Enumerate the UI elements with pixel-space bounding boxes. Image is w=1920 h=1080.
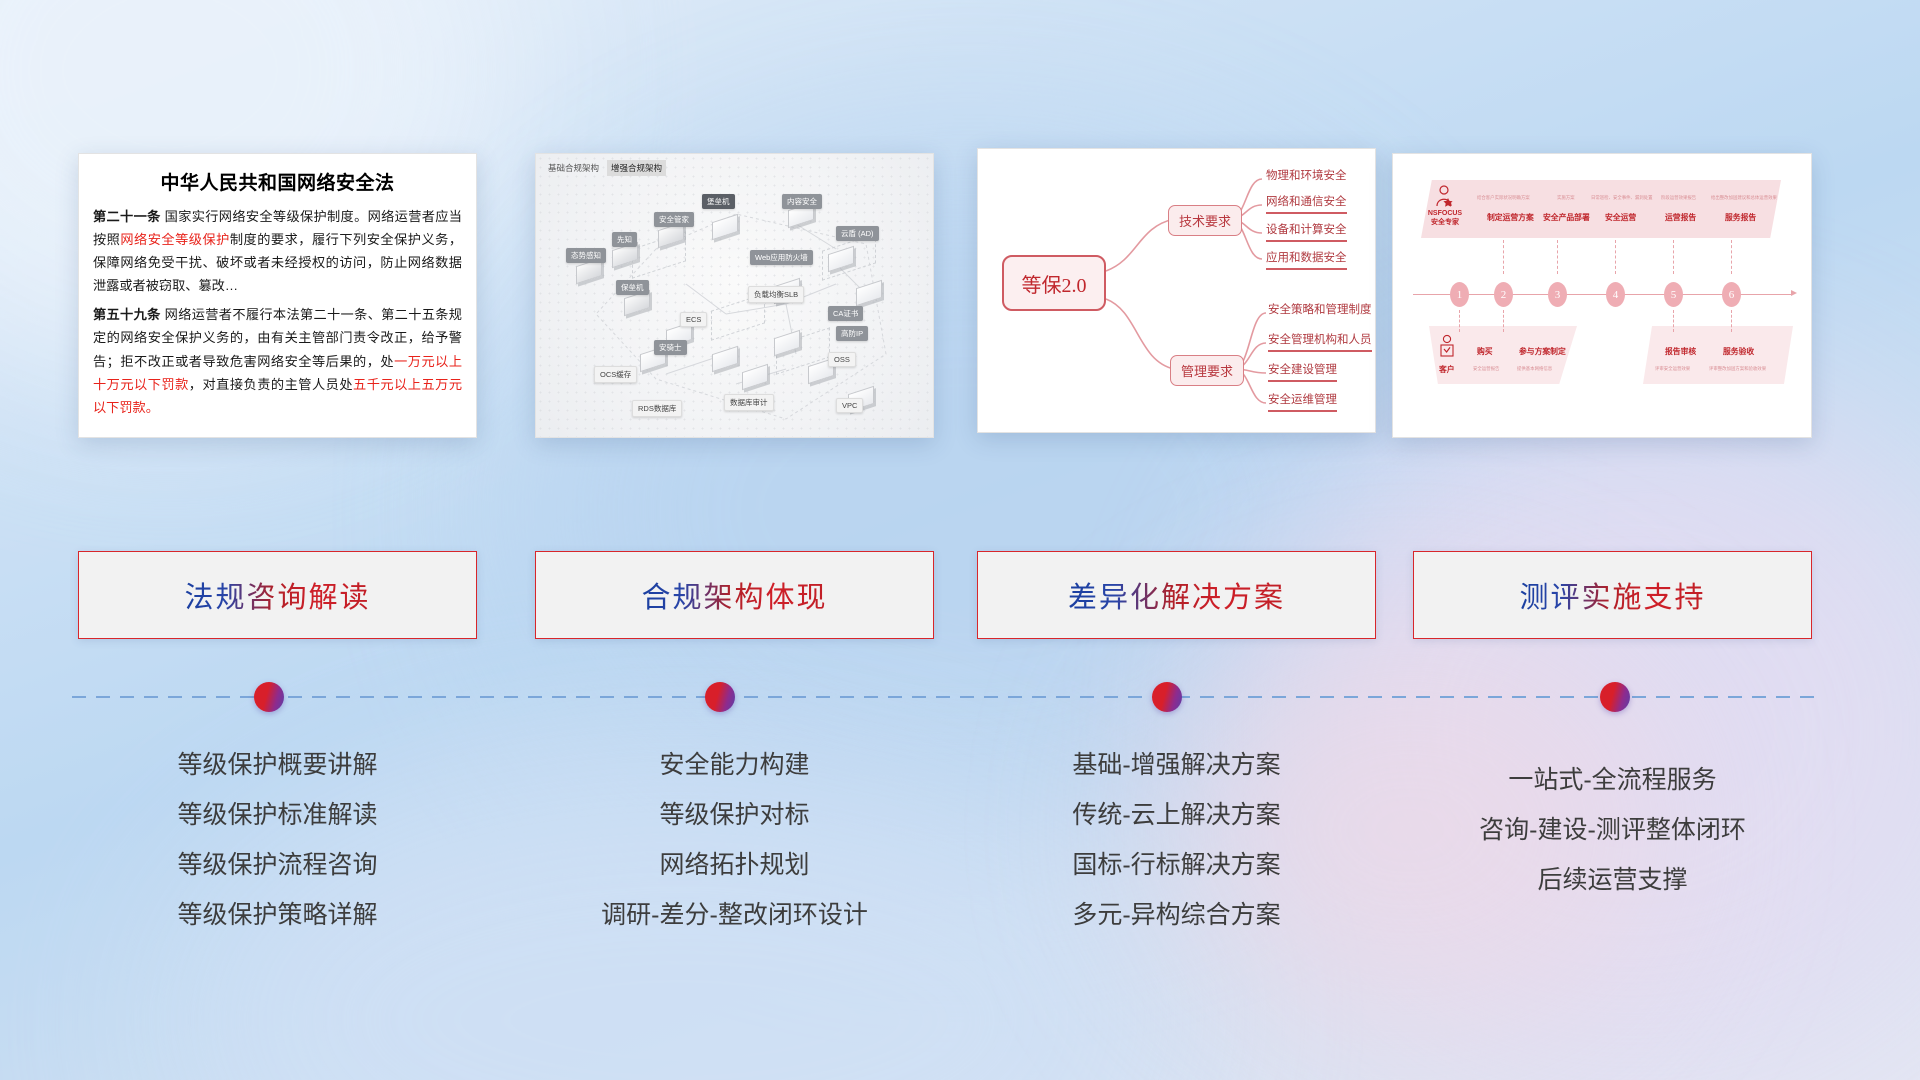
- provider-main-3: 安全运营: [1605, 212, 1636, 223]
- arch-node-8: RDS数据库: [632, 400, 682, 417]
- law-body: 第二十一条 国家实行网络安全等级保护制度。网络运营者应当按照网络安全等级保护制度…: [79, 205, 476, 433]
- nsfocus-logo-subtitle: 安全专家: [1423, 219, 1467, 228]
- list-item: 国标-行标解决方案: [977, 840, 1376, 890]
- arch-node-1: 安全管家: [654, 212, 694, 227]
- arch-node-14: OSS: [828, 352, 856, 367]
- provider-sub-5: 给出整改加固建议和总体运营效果: [1711, 195, 1777, 201]
- mindmap-leaf-tech-1[interactable]: 物理和环境安全: [1266, 167, 1347, 186]
- banner-label-1: 法规咨询解读: [184, 574, 370, 616]
- list-item: 网络拓扑规划: [535, 840, 934, 890]
- timeline-connector-c1: [1459, 310, 1460, 332]
- timeline-marker-2[interactable]: [705, 682, 735, 712]
- timeline-step-2[interactable]: 2: [1494, 282, 1513, 307]
- list-item: 等级保护标准解读: [78, 790, 477, 840]
- timeline-marker-3[interactable]: [1152, 682, 1182, 712]
- banner-compliance-architecture[interactable]: 合规架构体现: [535, 551, 934, 639]
- tab-enhanced-architecture[interactable]: 增强合规架构: [607, 160, 666, 176]
- law-title: 中华人民共和国网络安全法: [79, 154, 476, 205]
- arch-node-0: 堡垒机: [702, 194, 735, 209]
- banner-evaluation-support[interactable]: 测评实施支持: [1413, 551, 1812, 639]
- timeline-connector-c2: [1503, 310, 1504, 332]
- list-item: 基础-增强解决方案: [977, 740, 1376, 790]
- tab-basic-architecture[interactable]: 基础合规架构: [544, 160, 603, 176]
- timeline-dashed-axis: [72, 696, 1822, 698]
- timeline-step-3[interactable]: 3: [1548, 282, 1567, 307]
- list-item: 安全能力构建: [535, 740, 934, 790]
- arch-node-11: CA证书: [828, 306, 863, 321]
- nsfocus-logo: NSFOCUS 安全专家: [1423, 210, 1467, 228]
- mindmap-leaf-mgmt-4[interactable]: 安全运维管理: [1268, 391, 1337, 412]
- list-regulation-consulting: 等级保护概要讲解 等级保护标准解读 等级保护流程咨询 等级保护策略详解: [78, 740, 477, 940]
- arch-node-10: 负载均衡SLB: [748, 286, 804, 303]
- law-paragraph-1: 第二十一条 国家实行网络安全等级保护制度。网络运营者应当按照网络安全等级保护制度…: [93, 205, 462, 297]
- provider-main-1: 制定运营方案: [1487, 212, 1534, 223]
- cards-row: 中华人民共和国网络安全法 第二十一条 国家实行网络安全等级保护制度。网络运营者应…: [0, 0, 1920, 460]
- provider-band: [1421, 180, 1781, 238]
- arch-node-13: 数据库审计: [724, 394, 774, 411]
- timeline-connector-2: [1503, 240, 1504, 274]
- list-item: 传统-云上解决方案: [977, 790, 1376, 840]
- arch-node-16: 云盾 (AD): [836, 226, 879, 241]
- card-service-timeline[interactable]: NSFOCUS 安全专家 结合客户实际状况明确方案 制定运营方案 实施方案 安全…: [1392, 153, 1812, 438]
- customer-sub-1: 安全运营报告: [1473, 366, 1499, 372]
- timeline-connector-3: [1557, 240, 1558, 274]
- list-item: 一站式-全流程服务: [1413, 755, 1812, 805]
- arch-node-4: 保垒机: [616, 280, 649, 295]
- mindmap-leaf-mgmt-1[interactable]: 安全策略和管理制度: [1268, 301, 1372, 320]
- provider-main-2: 安全产品部署: [1543, 212, 1590, 223]
- customer-icon: [1437, 334, 1457, 360]
- timeline-step-1[interactable]: 1: [1450, 282, 1469, 307]
- customer-sub-2: 提供基本网络信息: [1517, 366, 1552, 372]
- list-item: 后续运营支撑: [1413, 855, 1812, 905]
- arch-node-12: 高防IP: [836, 326, 868, 341]
- list-differentiated-solution: 基础-增强解决方案 传统-云上解决方案 国标-行标解决方案 多元-异构综合方案: [977, 740, 1376, 940]
- law-text-2b: ，对直接负责的主管人员处: [189, 377, 353, 392]
- banner-label-4: 测评实施支持: [1519, 574, 1705, 616]
- provider-sub-2: 实施方案: [1557, 195, 1575, 201]
- provider-main-4: 运营报告: [1665, 212, 1696, 223]
- provider-expert-icon: [1433, 184, 1455, 208]
- provider-sub-1: 结合客户实际状况明确方案: [1477, 195, 1530, 201]
- arch-node-15: VPC: [836, 398, 863, 413]
- law-article-1: 第二十一条: [93, 209, 161, 224]
- arch-node-3: 态势感知: [566, 248, 606, 263]
- mindmap-leaf-tech-3[interactable]: 设备和计算安全: [1266, 221, 1347, 242]
- arch-node-9: Web应用防火墙: [750, 250, 813, 265]
- banner-regulation-consulting[interactable]: 法规咨询解读: [78, 551, 477, 639]
- provider-sub-3: 日常巡检、安全事件、漏洞处置: [1591, 195, 1652, 201]
- customer-sub-3: 评审安全运营效果: [1655, 366, 1690, 372]
- nsfocus-logo-text: NSFOCUS: [1423, 210, 1467, 219]
- mindmap-leaf-mgmt-3[interactable]: 安全建设管理: [1268, 361, 1337, 382]
- provider-main-5: 服务报告: [1725, 212, 1756, 223]
- mindmap-canvas: 等保2.0 技术要求 管理要求 物理和环境安全 网络和通信安全 设备和计算安全 …: [978, 149, 1375, 432]
- mindmap-branch-mgmt[interactable]: 管理要求: [1170, 355, 1244, 386]
- banner-differentiated-solution[interactable]: 差异化解决方案: [977, 551, 1376, 639]
- timeline-connector-5: [1673, 240, 1674, 274]
- timeline-step-6[interactable]: 6: [1722, 282, 1741, 307]
- architecture-canvas: 基础合规架构 增强合规架构: [536, 154, 933, 437]
- customer-main-3: 报告审核: [1665, 346, 1696, 357]
- mindmap-leaf-tech-4[interactable]: 应用和数据安全: [1266, 249, 1347, 270]
- list-item: 等级保护策略详解: [78, 890, 477, 940]
- customer-main-1: 购买: [1477, 346, 1493, 357]
- card-mindmap[interactable]: 等保2.0 技术要求 管理要求 物理和环境安全 网络和通信安全 设备和计算安全 …: [977, 148, 1376, 433]
- timeline-canvas: NSFOCUS 安全专家 结合客户实际状况明确方案 制定运营方案 实施方案 安全…: [1393, 154, 1811, 437]
- list-item: 多元-异构综合方案: [977, 890, 1376, 940]
- mindmap-center-node[interactable]: 等保2.0: [1002, 255, 1106, 311]
- list-compliance-architecture: 安全能力构建 等级保护对标 网络拓扑规划 调研-差分-整改闭环设计: [535, 740, 934, 940]
- list-item: 等级保护流程咨询: [78, 840, 477, 890]
- arch-node-6: 安骑士: [654, 340, 687, 355]
- arch-node-17: 内容安全: [782, 194, 822, 209]
- timeline-step-4[interactable]: 4: [1606, 282, 1625, 307]
- timeline-axis-arrow: [1791, 290, 1797, 296]
- timeline-step-5[interactable]: 5: [1664, 282, 1683, 307]
- provider-sub-4: 阶段运营效果报告: [1661, 195, 1696, 201]
- timeline-marker-4[interactable]: [1600, 682, 1630, 712]
- customer-main-2: 参与方案制定: [1519, 346, 1566, 357]
- law-paragraph-2: 第五十九条 网络运营者不履行本法第二十一条、第二十五条规定的网络安全保护义务的，…: [93, 303, 462, 418]
- mindmap-leaf-tech-2[interactable]: 网络和通信安全: [1266, 193, 1347, 214]
- mindmap-leaf-mgmt-2[interactable]: 安全管理机构和人员: [1268, 331, 1372, 352]
- customer-label: 客户: [1439, 364, 1455, 375]
- timeline-connector-4: [1615, 240, 1616, 274]
- law-article-2: 第五十九条: [93, 307, 161, 322]
- timeline-connector-c6: [1731, 310, 1732, 332]
- law-highlight-1: 网络安全等级保护: [120, 232, 229, 247]
- arch-node-2: 先知: [612, 232, 637, 247]
- arch-node-7: OCS缓存: [594, 366, 637, 383]
- list-item: 等级保护概要讲解: [78, 740, 477, 790]
- banner-label-3: 差异化解决方案: [1068, 574, 1285, 616]
- customer-sub-4: 评审整改加固方案和验收效果: [1709, 366, 1766, 372]
- list-item: 调研-差分-整改闭环设计: [535, 890, 934, 940]
- mindmap-branch-tech[interactable]: 技术要求: [1168, 205, 1242, 236]
- timeline-connector-6: [1731, 240, 1732, 274]
- architecture-tabs[interactable]: 基础合规架构 增强合规架构: [544, 160, 666, 176]
- timeline-marker-1[interactable]: [254, 682, 284, 712]
- list-item: 咨询-建设-测评整体闭环: [1413, 805, 1812, 855]
- card-law-document[interactable]: 中华人民共和国网络安全法 第二十一条 国家实行网络安全等级保护制度。网络运营者应…: [78, 153, 477, 438]
- list-item: 等级保护对标: [535, 790, 934, 840]
- list-evaluation-support: 一站式-全流程服务 咨询-建设-测评整体闭环 后续运营支撑: [1413, 755, 1812, 905]
- banner-label-2: 合规架构体现: [641, 574, 827, 616]
- card-architecture-diagram[interactable]: 基础合规架构 增强合规架构: [535, 153, 934, 438]
- arch-node-5: ECS: [680, 312, 707, 327]
- timeline-connector-c5: [1673, 310, 1674, 332]
- customer-main-4: 服务验收: [1723, 346, 1754, 357]
